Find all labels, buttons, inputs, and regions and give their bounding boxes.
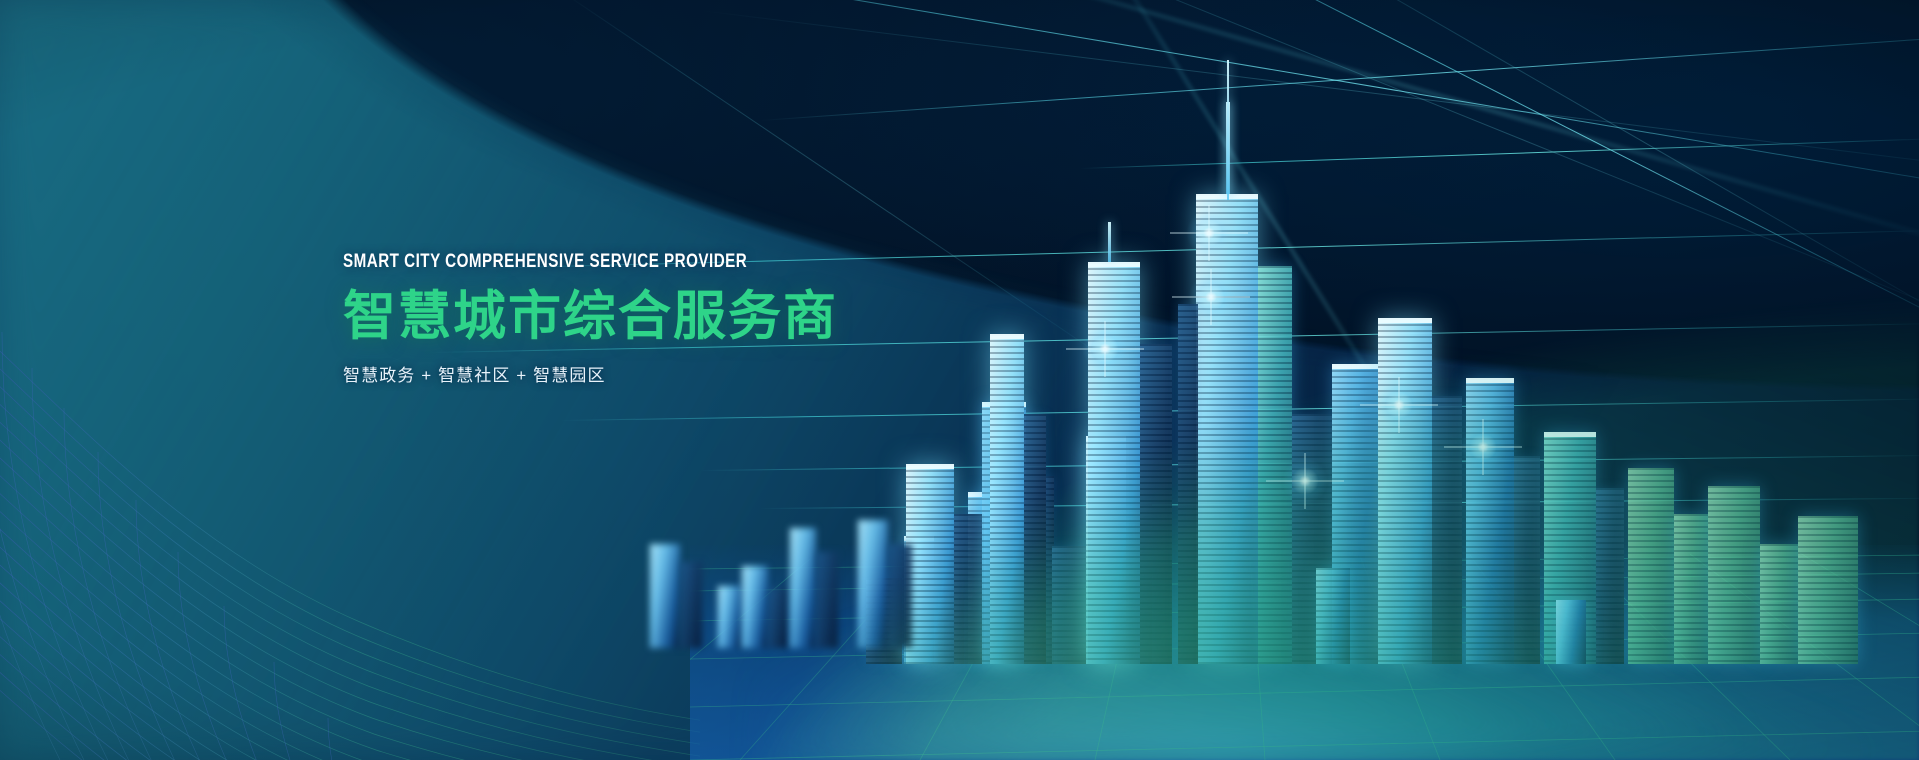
hero-text-block: SMART CITY COMPREHENSIVE SERVICE PROVIDE… — [343, 252, 848, 386]
vignette-overlay — [0, 0, 1919, 760]
subtitle-services: 智慧政务 + 智慧社区 + 智慧园区 — [343, 361, 848, 386]
page-title: 智慧城市综合服务商 — [343, 289, 848, 345]
eyebrow-english-tagline: SMART CITY COMPREHENSIVE SERVICE PROVIDE… — [343, 252, 747, 271]
smart-city-hero-banner: SMART CITY COMPREHENSIVE SERVICE PROVIDE… — [0, 0, 1919, 760]
